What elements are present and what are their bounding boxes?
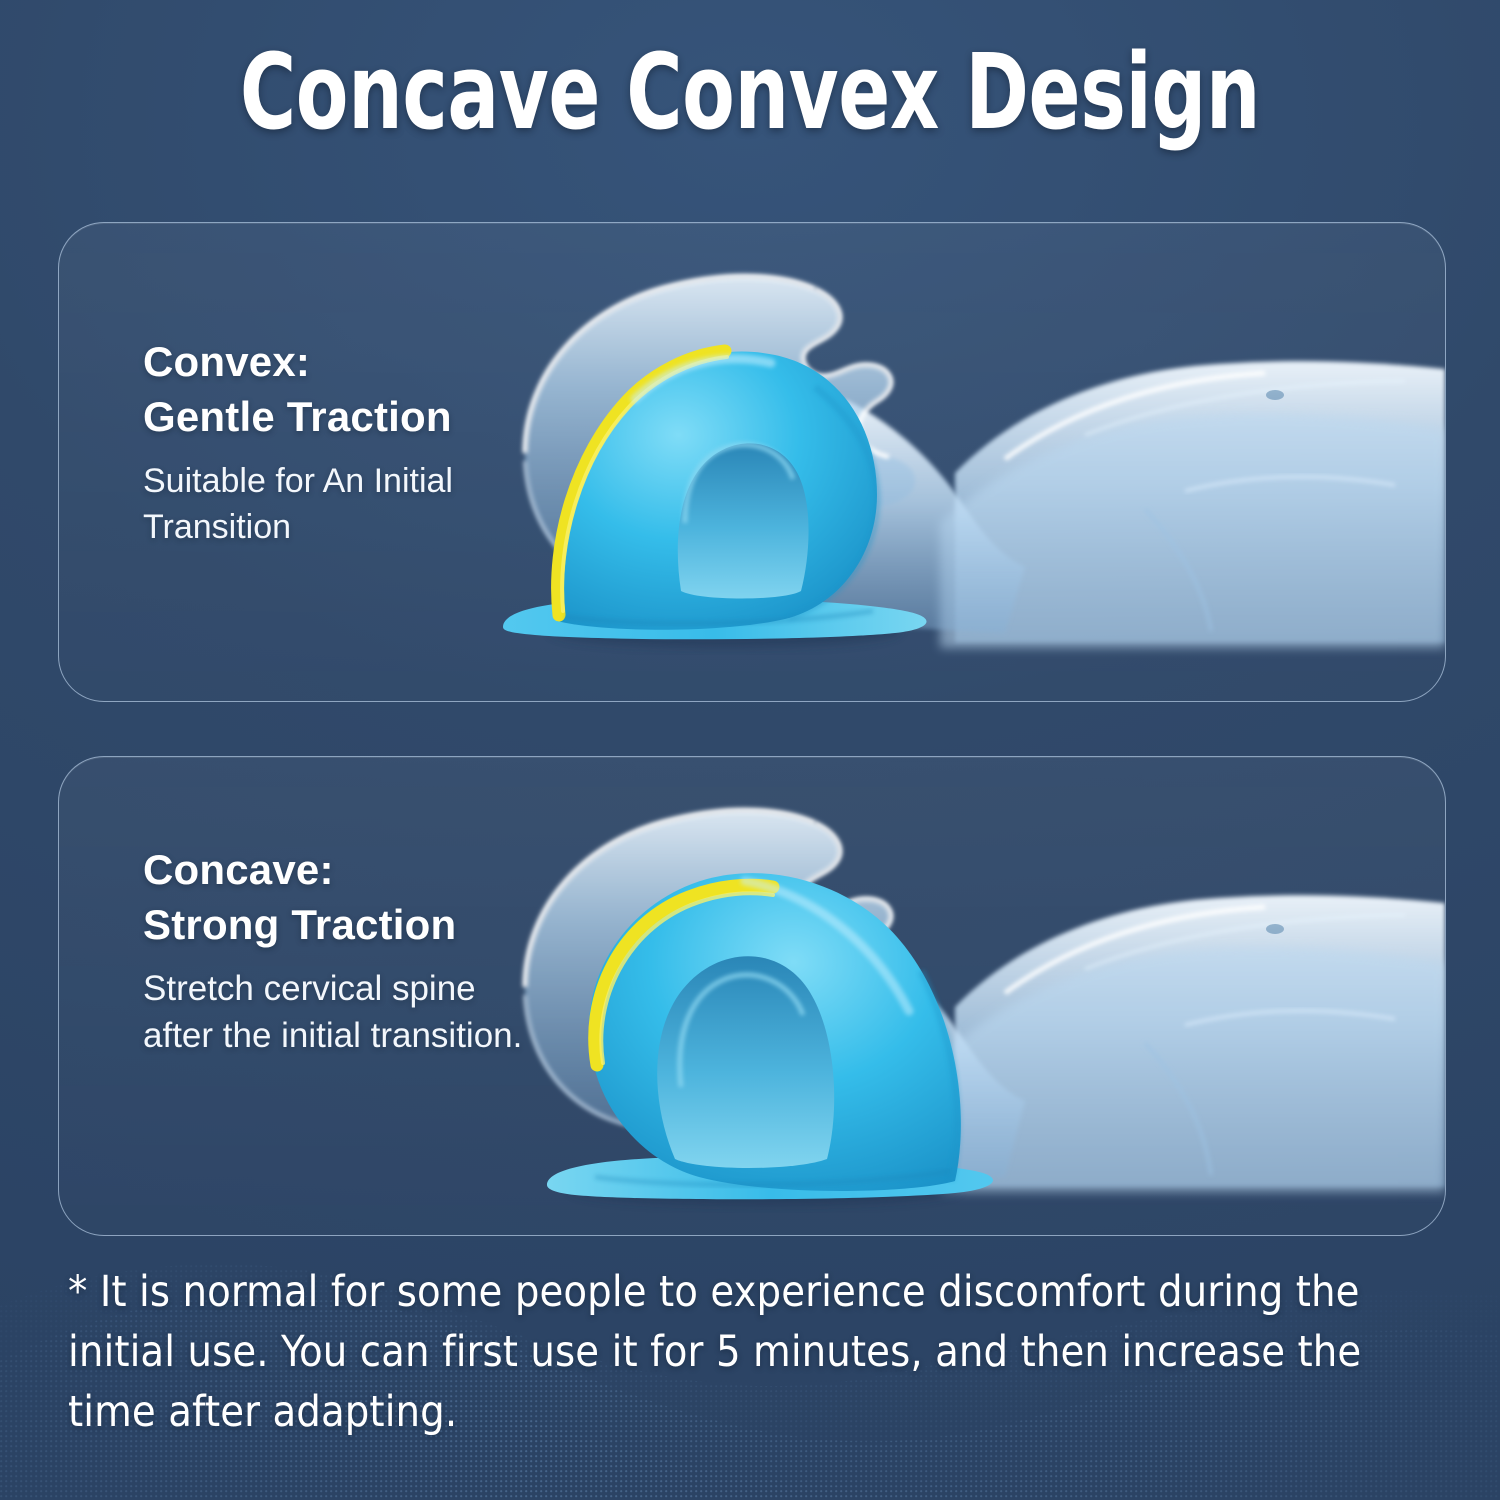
- panel-concave-text: Concave: Strong Traction Stretch cervica…: [143, 843, 522, 1060]
- panel-concave-subtext: Stretch cervical spine after the initial…: [143, 966, 522, 1060]
- panel-concave: Concave: Strong Traction Stretch cervica…: [58, 756, 1446, 1236]
- illustration-concave: [485, 757, 1445, 1235]
- panel-convex-text: Convex: Gentle Traction Suitable for An …: [143, 335, 453, 551]
- panel-convex-heading: Convex: Gentle Traction: [143, 335, 453, 444]
- panel-concave-heading: Concave: Strong Traction: [143, 843, 522, 952]
- infographic-canvas: Concave Convex Design: [0, 0, 1500, 1500]
- footnote-disclaimer: * It is normal for some people to experi…: [68, 1262, 1440, 1443]
- panel-convex: Convex: Gentle Traction Suitable for An …: [58, 222, 1446, 702]
- panel-convex-subtext: Suitable for An Initial Transition: [143, 458, 453, 550]
- page-title: Concave Convex Design: [135, 38, 1365, 147]
- illustration-convex: [485, 223, 1445, 701]
